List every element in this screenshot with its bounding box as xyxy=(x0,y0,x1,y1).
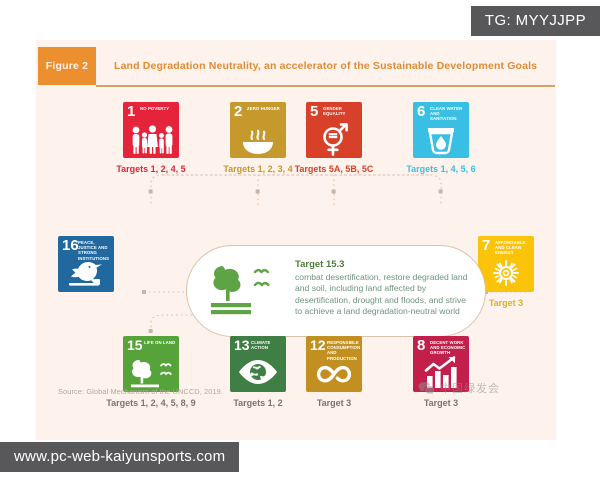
sdg-goal-5-targets: Targets 5A, 5B, 5C xyxy=(284,164,384,174)
sdg-goal-1-targets: Targets 1, 2, 4, 5 xyxy=(103,164,199,174)
sdg-goal-12-targets: Target 3 xyxy=(298,398,370,408)
sdg-goal-5[interactable]: 5 Gender Equality xyxy=(306,102,362,158)
figure-number-label: Figure 2 xyxy=(46,60,88,72)
sdg-goal-1[interactable]: 1 No Poverty xyxy=(123,102,179,158)
figure-page: Figure 2 Land Degradation Neutrality, an… xyxy=(36,40,556,440)
sdg-goal-12[interactable]: 12 Responsible Consumption and Productio… xyxy=(306,336,362,392)
figure-screenshot: Figure 2 Land Degradation Neutrality, an… xyxy=(0,0,600,480)
sdg-goal-6[interactable]: 6 Clean Water and Sanitation xyxy=(413,102,469,158)
sdg-goal-13[interactable]: 13 Climate Action xyxy=(230,336,286,392)
sdg-goal-15[interactable]: 15 Life on Land xyxy=(123,336,179,392)
sdg-bowl-icon xyxy=(230,118,286,158)
sdg-goal-16[interactable]: 16 Peace, Justice and Strong Institution… xyxy=(58,236,114,292)
sdg-goal-13-name: Climate Action xyxy=(251,340,284,350)
sdg-goal-2-number: 2 xyxy=(234,105,242,118)
sdg-goal-7-number: 7 xyxy=(482,239,490,252)
target-15-3-heading: Target 15.3 xyxy=(295,259,475,270)
sdg-infinity-icon xyxy=(306,352,362,392)
sdg-goal-6-targets: Targets 1, 4, 5, 6 xyxy=(393,164,489,174)
sdg-goal-5-name: Gender Equality xyxy=(323,106,360,116)
land-degradation-neutrality-icon xyxy=(205,260,289,324)
sdg-goal-12-number: 12 xyxy=(310,339,326,352)
target-15-3-text-block: Target 15.3 combat desertification, rest… xyxy=(295,259,475,318)
sdg-goal-7[interactable]: 7 Affordable and Clean Energy xyxy=(478,236,534,292)
sdg-goal-15-targets: Targets 1, 2, 4, 5, 8, 9 xyxy=(87,398,215,408)
sdg-goal-8-number: 8 xyxy=(417,339,425,352)
sdg-sun-icon xyxy=(478,252,534,292)
sdg-gender-icon xyxy=(306,118,362,158)
header-divider xyxy=(96,85,555,87)
watermark-text: 中国绿发会 xyxy=(440,380,500,396)
target-15-3-panel: Target 15.3 combat desertification, rest… xyxy=(186,245,486,337)
sdg-eye-icon xyxy=(230,352,286,392)
sdg-tree-icon xyxy=(123,352,179,392)
sdg-goal-2[interactable]: 2 Zero Hunger xyxy=(230,102,286,158)
sdg-family-icon xyxy=(123,118,179,158)
wechat-icon xyxy=(418,381,435,395)
figure-number-tab: Figure 2 xyxy=(38,47,96,85)
sdg-goal-13-number: 13 xyxy=(234,339,250,352)
sdg-goal-15-number: 15 xyxy=(127,339,143,352)
source-note: Source: Global Mechanism of the UNCCD, 2… xyxy=(58,387,223,396)
tg-overlay-tag: TG: MYYJJPP xyxy=(471,6,600,36)
sdg-dove-icon xyxy=(58,252,114,292)
figure-title: Land Degradation Neutrality, an accelera… xyxy=(114,47,537,85)
sdg-goal-16-number: 16 xyxy=(62,239,79,252)
sdg-goal-13-targets: Targets 1, 2 xyxy=(214,398,302,408)
sdg-goal-15-name: Life on Land xyxy=(144,340,177,345)
url-overlay-tag: www.pc-web-kaiyunsports.com xyxy=(0,442,239,472)
sdg-goal-1-number: 1 xyxy=(127,105,135,118)
sdg-goal-6-number: 6 xyxy=(417,105,425,118)
sdg-goal-1-name: No Poverty xyxy=(140,106,177,111)
sdg-water-icon xyxy=(413,118,469,158)
sdg-goal-5-number: 5 xyxy=(310,105,318,118)
watermark: 中国绿发会 xyxy=(418,380,500,396)
target-15-3-body: combat desertification, restore degraded… xyxy=(295,272,475,318)
sdg-goal-2-name: Zero Hunger xyxy=(247,106,284,111)
sdg-goal-8-targets: Target 3 xyxy=(405,398,477,408)
